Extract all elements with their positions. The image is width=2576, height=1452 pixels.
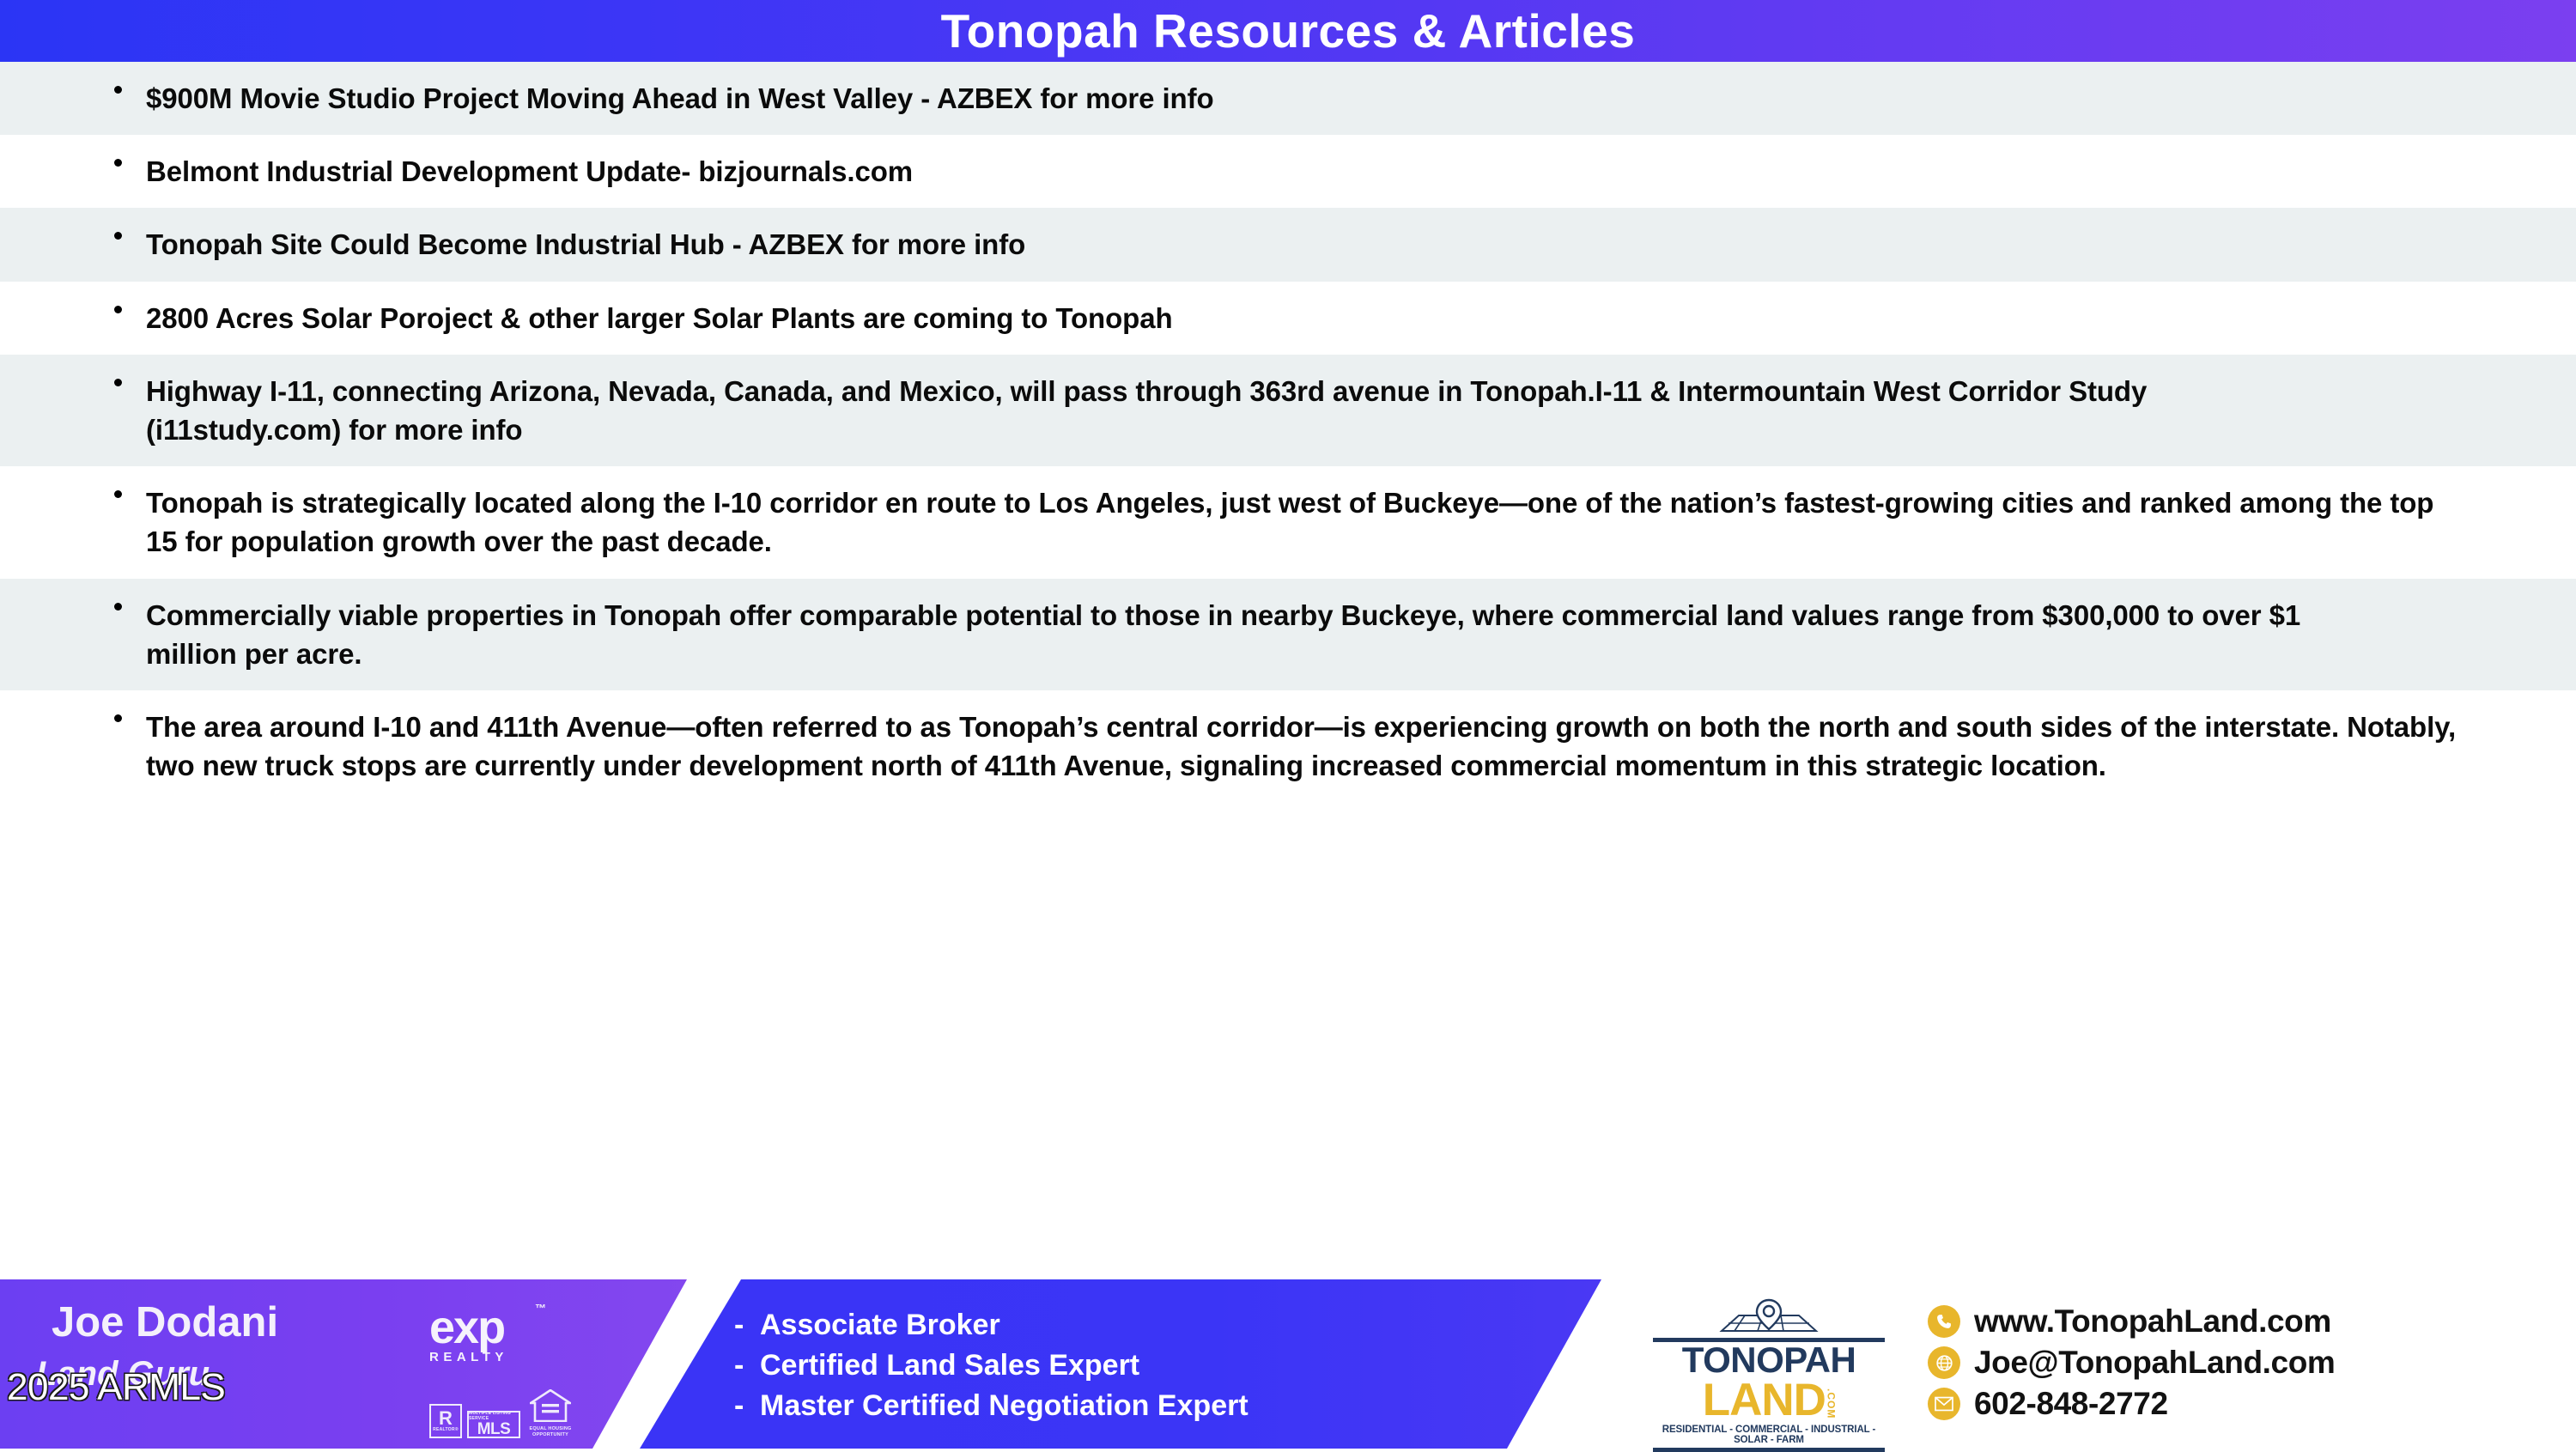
website-text: www.TonopahLand.com: [1974, 1303, 2331, 1340]
map-pin-solar-panel-icon: [1653, 1298, 1885, 1336]
credential-label: Master Certified Negotiation Expert: [760, 1391, 1249, 1422]
bullet-icon: [114, 86, 122, 94]
page-title: Tonopah Resources & Articles: [941, 8, 1636, 55]
list-item-text: Tonopah Site Could Become Industrial Hub…: [107, 225, 1025, 264]
compliance-badges: R REALTOR® MULTIPLE LISTING SERVICE MLS …: [429, 1389, 575, 1438]
list-item-text: Belmont Industrial Development Update- b…: [107, 152, 913, 191]
credential-item: - Certified Land Sales Expert: [734, 1349, 1249, 1382]
credential-label: Associate Broker: [760, 1310, 1000, 1341]
list-item-text: Highway I-11, connecting Arizona, Nevada…: [107, 372, 2241, 449]
list-item: $900M Movie Studio Project Moving Ahead …: [0, 62, 2576, 135]
equal-housing-caption: EQUAL HOUSING OPPORTUNITY: [526, 1426, 575, 1438]
list-item: 2800 Acres Solar Poroject & other larger…: [0, 282, 2576, 355]
bullet-icon: [114, 714, 122, 722]
equal-housing-house-icon: [530, 1389, 571, 1422]
realtor-letter: R: [439, 1410, 453, 1427]
list-item: Tonopah is strategically located along t…: [0, 466, 2576, 578]
mls-wordmark: MLS: [477, 1421, 511, 1437]
credentials-list: - Associate Broker - Certified Land Sale…: [734, 1309, 1249, 1430]
logo-domain-suffix: .COM: [1826, 1388, 1835, 1419]
logo-name-bottom-row: LAND .COM: [1653, 1379, 1885, 1422]
list-item-text: Tonopah is strategically located along t…: [107, 483, 2464, 561]
armls-watermark: 2025 ARMLS: [7, 1366, 225, 1409]
envelope-icon: [1928, 1388, 1960, 1420]
page-header: Tonopah Resources & Articles: [0, 0, 2576, 62]
globe-glyph: [1935, 1354, 1953, 1372]
envelope-glyph: [1935, 1396, 1953, 1412]
realtor-badge-icon: R REALTOR®: [429, 1404, 462, 1438]
agent-identity: Joe Dodani: [52, 1302, 278, 1344]
list-item: Highway I-11, connecting Arizona, Nevada…: [0, 355, 2576, 466]
tonopah-land-logo: TONOPAH LAND .COM RESIDENTIAL - COMMERCI…: [1653, 1298, 1885, 1452]
equal-housing-badge-icon: EQUAL HOUSING OPPORTUNITY: [526, 1389, 575, 1438]
phone-icon: [1928, 1305, 1960, 1338]
credential-dash: -: [734, 1309, 760, 1342]
contact-item-phone[interactable]: 602-848-2772: [1928, 1386, 2335, 1422]
exp-wordmark: exp™: [429, 1307, 532, 1349]
credential-item: - Associate Broker: [734, 1309, 1249, 1342]
logo-name-bottom: LAND: [1703, 1379, 1826, 1422]
credential-label: Certified Land Sales Expert: [760, 1351, 1139, 1382]
list-item-text: The area around I-10 and 411th Avenue—of…: [107, 708, 2499, 785]
phone-handset-glyph: [1935, 1313, 1953, 1330]
contact-item-email[interactable]: Joe@TonopahLand.com: [1928, 1345, 2335, 1381]
list-item-text: Commercially viable properties in Tonopa…: [107, 596, 2396, 673]
exp-wordmark-text: exp: [429, 1302, 504, 1353]
list-item: Tonopah Site Could Become Industrial Hub…: [0, 208, 2576, 281]
page-footer: Joe Dodani Land Guru exp™ REALTY R REALT…: [0, 1279, 2576, 1449]
credential-item: - Master Certified Negotiation Expert: [734, 1389, 1249, 1423]
list-item: Belmont Industrial Development Update- b…: [0, 135, 2576, 208]
bullet-icon: [114, 306, 122, 313]
email-text: Joe@TonopahLand.com: [1974, 1345, 2335, 1381]
exp-realty-logo: exp™ REALTY: [429, 1307, 532, 1364]
contact-list: www.TonopahLand.com Joe@TonopahLand.com: [1928, 1303, 2335, 1427]
realtor-caption: REALTOR®: [433, 1427, 459, 1432]
contact-item-website[interactable]: www.TonopahLand.com: [1928, 1303, 2335, 1340]
list-item-text: $900M Movie Studio Project Moving Ahead …: [107, 79, 1214, 118]
logo-tagline: RESIDENTIAL - COMMERCIAL - INDUSTRIAL - …: [1653, 1425, 1885, 1445]
list-item-text: 2800 Acres Solar Poroject & other larger…: [107, 299, 1173, 337]
logo-name-top: TONOPAH: [1653, 1342, 1885, 1379]
list-item: The area around I-10 and 411th Avenue—of…: [0, 690, 2576, 802]
trademark-icon: ™: [535, 1303, 546, 1314]
globe-icon: [1928, 1346, 1960, 1379]
logo-mark: [1653, 1298, 1885, 1336]
credential-dash: -: [734, 1389, 760, 1423]
phone-text: 602-848-2772: [1974, 1386, 2168, 1422]
list-item: Commercially viable properties in Tonopa…: [0, 579, 2576, 690]
resources-list: $900M Movie Studio Project Moving Ahead …: [0, 62, 2576, 802]
credential-dash: -: [734, 1349, 760, 1382]
bullet-icon: [114, 603, 122, 611]
bullet-icon: [114, 379, 122, 386]
mls-badge-icon: MULTIPLE LISTING SERVICE MLS: [467, 1411, 520, 1438]
agent-name: Joe Dodani: [52, 1302, 278, 1344]
